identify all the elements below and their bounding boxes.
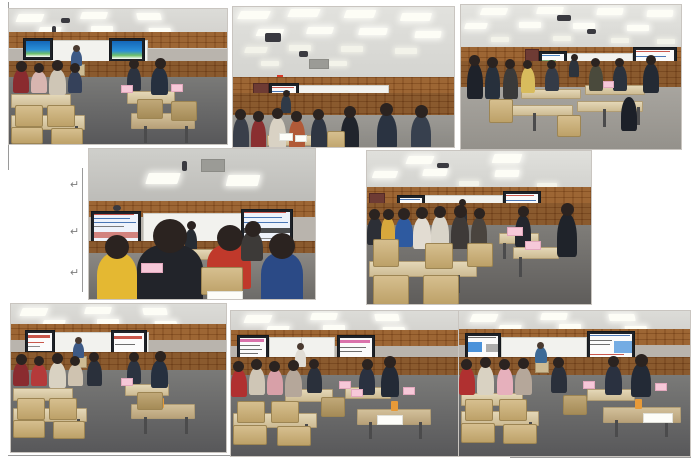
chair <box>137 392 163 410</box>
speaker-head <box>571 54 578 61</box>
audience-member <box>269 117 286 147</box>
audience-member <box>311 117 327 147</box>
audience-head <box>16 354 27 365</box>
projector-icon <box>61 18 70 23</box>
desk-name-card <box>141 263 163 273</box>
presentation-screen-left <box>23 38 53 60</box>
text-column-border-left <box>82 168 83 292</box>
audience-head <box>105 235 129 259</box>
photo-1-lecture-hall-wide-front-view[interactable] <box>8 8 228 145</box>
slide-text-line <box>272 87 294 88</box>
paper <box>377 415 403 425</box>
slide-right <box>590 334 632 358</box>
ceiling-lamp <box>395 48 417 54</box>
audience-member <box>381 365 399 397</box>
scene-photo-6 <box>11 304 226 452</box>
chair <box>271 401 299 423</box>
ceiling-lamp <box>142 308 167 315</box>
presentation-screen-right <box>109 38 145 62</box>
desk-leg <box>503 243 506 259</box>
chair <box>423 275 459 304</box>
chair <box>563 395 587 415</box>
desk-leg <box>533 113 536 131</box>
audience-head <box>480 357 491 368</box>
speaker-head <box>537 342 544 349</box>
audience-head <box>70 356 80 366</box>
chair <box>51 128 83 144</box>
audience-member <box>267 369 283 395</box>
desk-name-card <box>507 227 523 236</box>
chair <box>461 423 495 443</box>
page-border-bottom-right <box>510 457 691 458</box>
audience-head <box>34 356 44 366</box>
slide-left <box>240 338 266 358</box>
desk-name-card <box>339 381 351 389</box>
ceiling-lamp <box>536 7 564 14</box>
speaker <box>535 347 547 363</box>
paper <box>643 413 673 423</box>
chair <box>467 243 493 267</box>
audience-member <box>477 365 494 395</box>
slide-text-line <box>240 349 262 350</box>
audience-head <box>344 106 356 118</box>
audience-member <box>551 365 567 393</box>
scene-photo-8 <box>459 311 690 456</box>
audience-member <box>621 97 637 131</box>
chair <box>11 127 43 144</box>
chair <box>15 105 43 127</box>
audience-member-yellow <box>97 253 137 299</box>
slide-text-line <box>114 336 142 339</box>
ceiling-lamp <box>540 313 568 320</box>
slide-text-line <box>590 340 612 341</box>
slide-text-line <box>94 222 136 223</box>
audience-member <box>589 65 603 91</box>
chair <box>425 243 453 269</box>
projector-icon <box>182 161 187 171</box>
speaker-head <box>283 90 290 97</box>
slide-text-line <box>94 218 130 219</box>
slide-text-line <box>340 347 366 348</box>
chair <box>137 99 163 119</box>
slide-text-line <box>240 345 260 346</box>
desk-name-card <box>525 241 541 250</box>
ceiling-lamp <box>553 36 571 41</box>
ceiling-lamp <box>469 314 498 322</box>
photo-5-classroom-rear-view-with-desk-cards[interactable] <box>366 150 592 305</box>
scene-photo-7 <box>231 311 460 456</box>
audience-member <box>613 65 627 91</box>
slide-text-line <box>244 212 286 213</box>
audience-head <box>398 208 410 220</box>
audience-head <box>505 59 515 69</box>
slide-left <box>468 336 498 358</box>
slide-left <box>28 333 52 351</box>
audience-member <box>307 367 322 393</box>
audience-head <box>288 360 299 371</box>
audience-member <box>231 369 247 397</box>
paper <box>279 133 293 141</box>
audience-member <box>605 365 622 395</box>
photo-6-lecture-hall-two-screens-bottom-left[interactable] <box>10 303 227 453</box>
chair <box>499 399 527 421</box>
slide-text-line <box>240 353 258 354</box>
slide-text-line <box>400 199 420 200</box>
audience-member <box>521 67 535 93</box>
ceiling-lamp <box>261 61 279 66</box>
audience-head <box>487 57 498 68</box>
ceiling-lamp <box>459 181 479 186</box>
ceiling-lamp <box>611 38 629 43</box>
projector-icon <box>437 163 449 168</box>
photo-3-side-angle-classroom-view[interactable] <box>460 4 682 150</box>
ceiling-lamp <box>414 31 441 38</box>
slide-text-line <box>486 344 498 352</box>
audience-member <box>503 67 518 99</box>
audience-head <box>384 356 396 368</box>
slide-text-line <box>240 339 264 342</box>
slide-text-line <box>614 341 632 353</box>
ceiling-lamp <box>243 315 272 323</box>
audience-head <box>155 351 166 362</box>
desk-name-card <box>121 85 133 93</box>
desk-name-card <box>403 387 415 395</box>
audience-head <box>89 352 99 362</box>
paper <box>295 135 307 142</box>
slide-text-line <box>590 354 624 355</box>
projector-icon <box>557 15 571 21</box>
audience-head <box>253 111 264 122</box>
audience-head <box>369 209 380 220</box>
desk-leg <box>369 422 372 439</box>
audience-member <box>467 63 483 99</box>
ceiling-lamp <box>657 39 675 44</box>
ceiling-lamp <box>608 314 635 321</box>
slide-text-line <box>590 344 610 345</box>
audience-head <box>52 353 63 364</box>
ceiling-lamp <box>344 10 377 18</box>
audience-head <box>269 233 295 259</box>
scene-photo-3 <box>461 5 681 149</box>
audience-head <box>523 60 532 69</box>
chair <box>557 115 581 137</box>
ceiling-lamp <box>19 308 48 316</box>
audience-head <box>553 357 564 368</box>
ceiling-lamp <box>374 314 399 321</box>
ceiling-vent <box>309 59 329 69</box>
slide-text-line <box>244 217 282 218</box>
ceiling-lamp <box>136 13 162 20</box>
ceiling-lamp <box>400 13 432 21</box>
ceiling-lamp <box>647 10 674 17</box>
cup <box>635 399 642 409</box>
slide-text-line <box>28 342 44 343</box>
audience-member <box>631 363 651 397</box>
audience-head <box>499 359 510 370</box>
slide-text-line <box>542 55 560 56</box>
audience-head <box>129 59 139 69</box>
audience-head <box>635 354 648 367</box>
ceiling-lamp <box>519 22 541 28</box>
chair <box>49 398 77 420</box>
chair <box>489 99 513 123</box>
slide-text-line <box>468 342 482 352</box>
audience-head <box>591 58 600 67</box>
audience-head <box>469 55 480 66</box>
audience-member <box>151 67 168 95</box>
audience-head <box>272 108 283 119</box>
audience-member <box>557 213 577 257</box>
projector-icon <box>299 51 308 57</box>
audience-member <box>13 362 29 386</box>
chair <box>373 239 399 267</box>
desk-leg <box>519 257 522 277</box>
slide-text-line <box>590 335 630 336</box>
audience-head <box>380 103 393 116</box>
audience-head <box>415 105 428 118</box>
desk-leg <box>419 422 422 439</box>
chair <box>321 397 345 417</box>
audience-head <box>454 205 467 218</box>
scene-photo-2 <box>233 7 454 147</box>
paragraph-mark-2: ↵ <box>70 227 79 238</box>
audience-head <box>547 60 556 69</box>
ceiling-lamp <box>341 46 363 52</box>
audience-member <box>49 362 66 388</box>
ceiling-lamp <box>244 47 268 53</box>
desk-name-card <box>171 84 183 92</box>
audience-member <box>151 360 168 388</box>
slide-text-line <box>28 335 50 338</box>
chair <box>53 421 85 439</box>
chair <box>465 399 493 421</box>
desk-leg <box>185 126 188 143</box>
audience-member <box>285 369 302 397</box>
audience-member <box>233 117 249 147</box>
paragraph-mark-1: ↵ <box>70 180 79 191</box>
audience-head <box>461 359 472 370</box>
chair <box>17 398 45 420</box>
ceiling-lamp <box>596 8 623 15</box>
ceiling-lamp <box>310 313 338 320</box>
ceiling-lamp <box>372 171 399 178</box>
slide-text-line <box>636 51 670 52</box>
audience-head <box>291 111 302 122</box>
projector-icon <box>587 29 596 34</box>
slide-text-line <box>115 344 135 345</box>
audience-member <box>249 367 265 395</box>
desk-leg <box>603 109 606 127</box>
ceiling-lamp <box>84 307 112 314</box>
slide-text-line <box>28 346 40 347</box>
desk-name-card <box>583 381 595 389</box>
audience-member <box>643 63 659 93</box>
slide-right <box>112 41 142 59</box>
audience-head <box>235 109 246 120</box>
chair <box>277 426 311 446</box>
chair <box>13 420 45 438</box>
photo-4-presenter-with-dual-slides-close-view[interactable] <box>88 148 316 300</box>
audience-head <box>608 356 619 367</box>
audience-head <box>416 207 428 219</box>
chair <box>373 275 409 304</box>
desk-leg <box>185 417 188 434</box>
ceiling-lamp <box>627 25 649 31</box>
speaker-head <box>75 337 82 344</box>
audience-member <box>545 67 559 91</box>
audience-head <box>518 206 529 217</box>
audience-head <box>153 219 187 253</box>
slide-text-line <box>468 337 496 338</box>
audience-member <box>497 367 513 395</box>
camera-icon <box>113 205 121 211</box>
scene-photo-5 <box>367 151 591 304</box>
desk-name-card <box>121 378 133 386</box>
cup <box>391 401 398 411</box>
document-page: ↵ ↵ ↵ <box>0 0 691 462</box>
photo-8-lecture-hall-two-screens-bottom-right[interactable] <box>458 310 691 457</box>
desk-leg <box>144 126 147 143</box>
audience-head <box>269 361 280 372</box>
audience-member <box>68 71 82 93</box>
audience-member <box>13 69 29 93</box>
paragraph-mark-3: ↵ <box>70 268 79 279</box>
audience-head <box>233 361 244 372</box>
photo-2-ceiling-and-rear-audience-view[interactable] <box>232 6 455 148</box>
projector-icon <box>265 33 281 42</box>
audience-head <box>561 203 574 216</box>
slide-right <box>340 338 372 358</box>
desk-name-card <box>655 383 667 391</box>
chair <box>503 424 537 444</box>
audience-member-blue <box>261 253 303 299</box>
scene-photo-1 <box>9 9 227 144</box>
ceiling-lamp <box>491 37 509 42</box>
ceiling-lamp <box>80 12 108 19</box>
audience-member <box>31 71 47 93</box>
desk-leg <box>637 107 640 125</box>
audience-member <box>485 65 500 99</box>
chair <box>327 131 345 147</box>
ceiling-lamp <box>329 61 347 66</box>
ceiling-lamp <box>492 154 523 163</box>
audience-head <box>155 58 166 69</box>
paper <box>207 291 243 299</box>
presentation-screen-left <box>25 330 55 354</box>
audience-member <box>377 113 397 147</box>
slide-text-line <box>94 214 134 215</box>
audience-head <box>16 61 27 72</box>
speaker-head <box>187 221 196 230</box>
audience-member <box>411 115 431 147</box>
audience-head <box>309 359 319 369</box>
ceiling-lamp <box>306 27 334 34</box>
audience-head <box>34 63 44 73</box>
ceiling-lamp <box>464 23 488 29</box>
desk-leg <box>144 417 147 434</box>
audience-head <box>52 60 63 71</box>
audience-head <box>383 209 394 220</box>
ceiling-lamp <box>145 173 181 184</box>
slide-text-line <box>94 226 124 227</box>
speaker-head <box>73 45 80 52</box>
audience-head <box>70 63 80 73</box>
audience-member <box>87 360 102 386</box>
audience-head <box>313 109 324 120</box>
speaker <box>569 59 579 77</box>
ceiling-lamp <box>287 9 321 17</box>
speaker-head <box>297 343 304 350</box>
chair <box>171 101 197 121</box>
audience-member <box>49 69 66 95</box>
audience-head <box>434 206 446 218</box>
desk-leg <box>615 420 618 437</box>
chair <box>47 105 75 127</box>
desk-name-card <box>603 81 614 88</box>
ceiling-lamp <box>405 156 434 164</box>
audience-member <box>459 367 475 395</box>
audience-head <box>362 359 373 370</box>
audience-member <box>515 367 532 395</box>
audience-head <box>518 358 529 369</box>
audience-head <box>251 359 262 370</box>
audience-head <box>646 55 656 65</box>
slide-text-line <box>340 351 362 352</box>
ceiling-lamp <box>226 175 261 186</box>
audience-member <box>68 364 83 386</box>
slide-text-line <box>340 340 370 343</box>
audience-head <box>615 58 624 67</box>
photo-7-lecture-hall-two-screens-bottom-middle[interactable] <box>230 310 461 457</box>
slide-left <box>26 41 50 57</box>
ceiling-lamp <box>480 8 509 15</box>
scene-photo-4 <box>89 149 315 299</box>
desk-name-card <box>351 389 363 397</box>
chair <box>233 425 267 445</box>
ceiling-lamp <box>494 170 519 177</box>
slide-text-line <box>506 195 534 196</box>
ceiling-lamp <box>237 11 271 19</box>
audience-member <box>31 364 47 386</box>
audience-member <box>251 119 266 147</box>
ceiling-vent <box>201 159 225 172</box>
audience-head <box>217 225 243 251</box>
ceiling-lamp <box>358 28 388 35</box>
slide-text-line <box>506 200 536 201</box>
audience-head <box>245 221 261 237</box>
ceiling-lamp <box>422 169 448 176</box>
audience-head <box>474 208 485 219</box>
audience-head <box>129 352 139 362</box>
chair <box>237 401 265 423</box>
ceiling-lamp <box>15 14 44 22</box>
slide-right <box>114 333 144 353</box>
